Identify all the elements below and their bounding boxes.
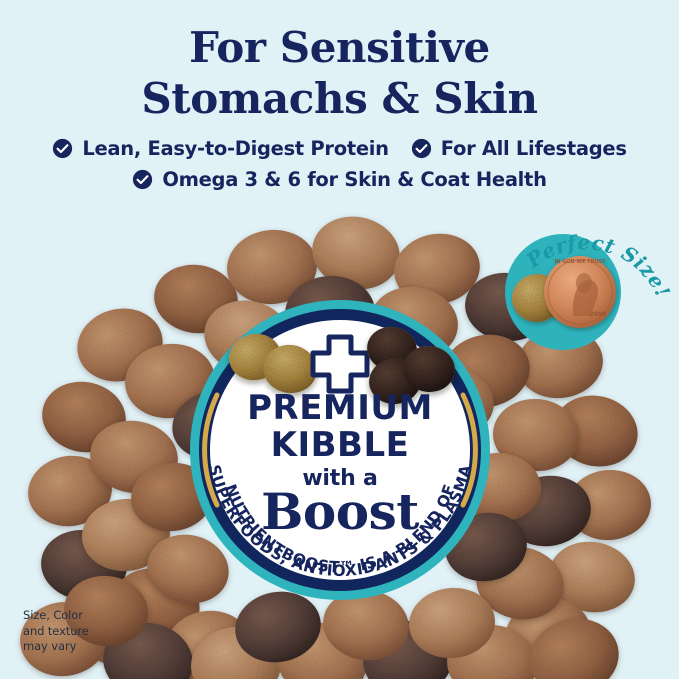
- benefit-row: Omega 3 & 6 for Skin & Coat Health: [0, 164, 679, 195]
- disclaimer-text: Size, Color and texture may vary: [23, 608, 153, 655]
- coin-year: 2008: [590, 311, 607, 318]
- perfect-size-callout: IN GOD WE TRUST 2008 Perfect Size!: [487, 206, 679, 352]
- benefit-label: Lean, Easy-to-Digest Protein: [82, 137, 388, 160]
- benefit-item: For All Lifestages: [411, 137, 627, 160]
- badge-graphic: NUTRIENTBOOST™ IS A BLEND OF SUPERFOODS,…: [189, 299, 491, 601]
- perfect-size-graphic: IN GOD WE TRUST 2008 Perfect Size!: [487, 206, 679, 352]
- benefit-item: Lean, Easy-to-Digest Protein: [52, 137, 388, 160]
- premium-kibble-badge: NUTRIENTBOOST™ IS A BLEND OF SUPERFOODS,…: [189, 299, 491, 601]
- benefit-label: For All Lifestages: [441, 137, 627, 160]
- penny-coin-icon: IN GOD WE TRUST 2008: [544, 256, 616, 328]
- check-circle-icon: [411, 138, 432, 159]
- check-circle-icon: [132, 169, 153, 190]
- benefit-row: Lean, Easy-to-Digest Protein For All Lif…: [0, 133, 679, 164]
- check-circle-icon: [52, 138, 73, 159]
- benefit-list: Lean, Easy-to-Digest Protein For All Lif…: [0, 133, 679, 195]
- product-feature-image: For Sensitive Stomachs & Skin Lean, Easy…: [0, 0, 679, 679]
- coin-motto: IN GOD WE TRUST: [554, 259, 606, 265]
- page-title: For Sensitive Stomachs & Skin: [0, 22, 679, 124]
- benefit-item: Omega 3 & 6 for Skin & Coat Health: [132, 168, 546, 191]
- benefit-label: Omega 3 & 6 for Skin & Coat Health: [162, 168, 546, 191]
